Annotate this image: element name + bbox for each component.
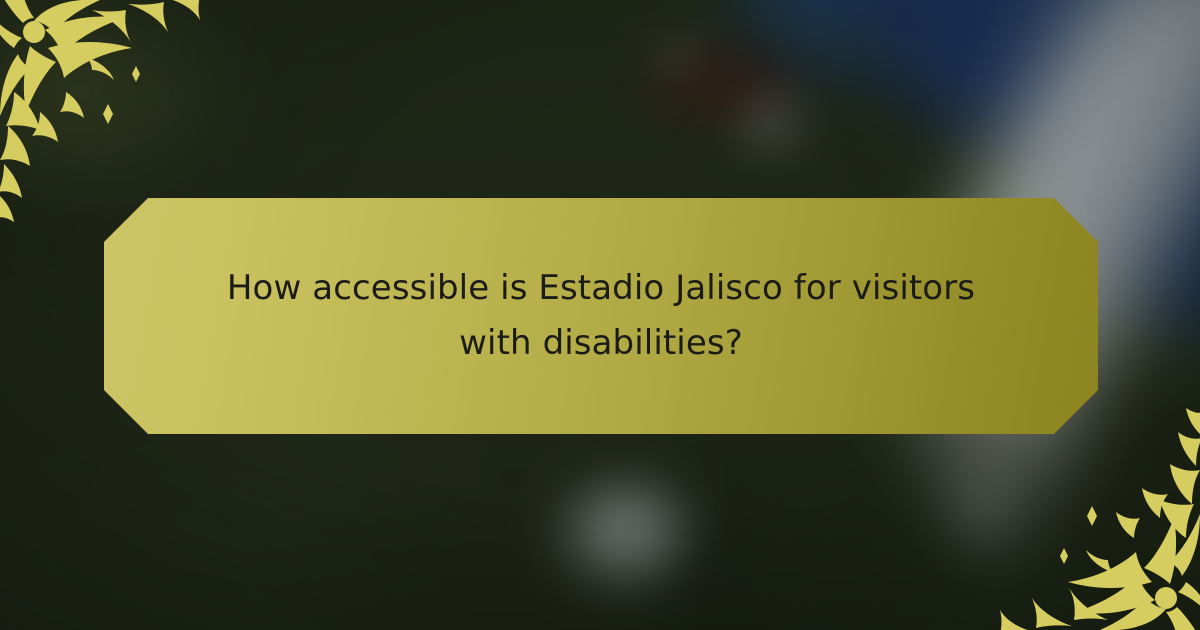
question-banner: How accessible is Estadio Jalisco for vi… <box>104 198 1098 434</box>
question-text: How accessible is Estadio Jalisco for vi… <box>221 261 981 371</box>
question-card: How accessible is Estadio Jalisco for vi… <box>0 0 1200 630</box>
